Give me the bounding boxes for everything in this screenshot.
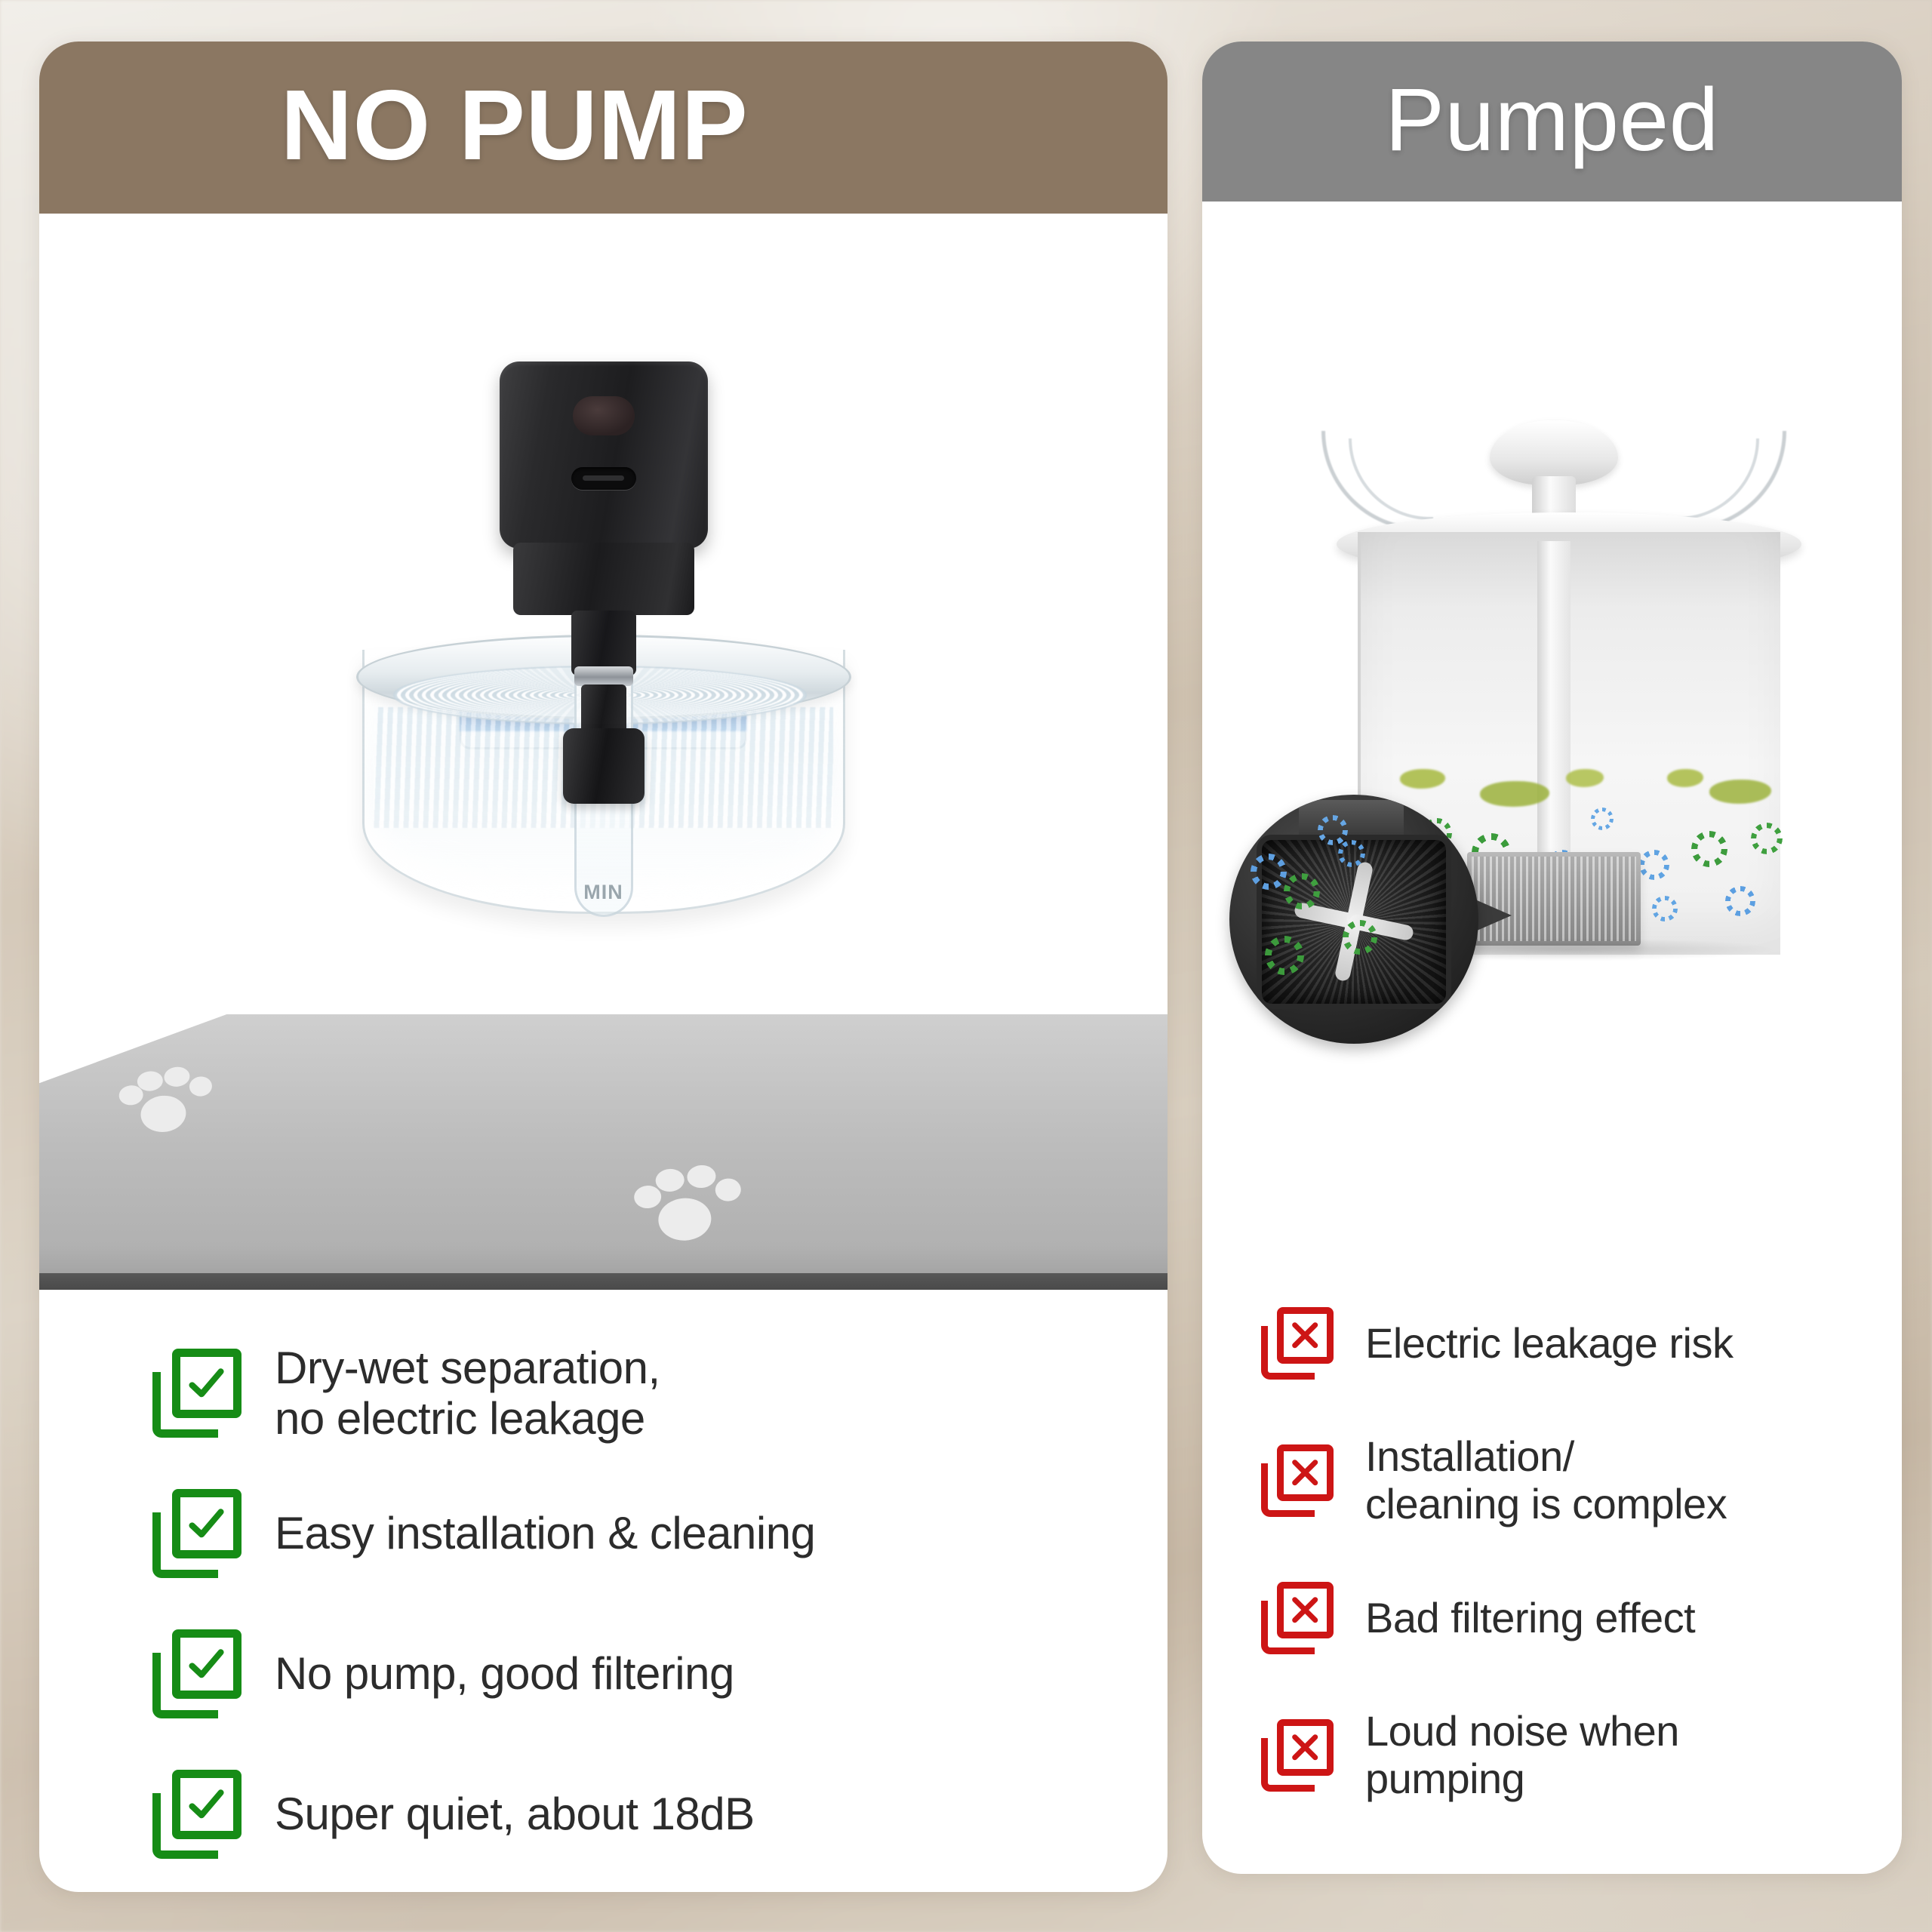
feature-label: Loud noise when pumping	[1365, 1708, 1679, 1802]
pump-module-body	[500, 361, 708, 549]
pump-module	[483, 361, 724, 663]
pump-shaft	[581, 685, 626, 733]
feature-label: Super quiet, about 18dB	[275, 1789, 755, 1839]
feature-item: Loud noise when pumping	[1202, 1687, 1902, 1824]
pumped-header: Pumped	[1202, 42, 1902, 202]
germ-icon	[1756, 828, 1777, 849]
check-icon	[152, 1489, 241, 1578]
gauge-min-label: MIN	[577, 881, 631, 904]
no-pump-header: NO PUMP	[39, 42, 1168, 214]
feature-label: Electric leakage risk	[1365, 1320, 1733, 1367]
germ-icon	[1290, 879, 1314, 903]
feature-label: Installation/ cleaning is complex	[1365, 1433, 1727, 1527]
feature-label: Bad filtering effect	[1365, 1595, 1695, 1642]
usb-c-port-icon	[571, 467, 636, 490]
feature-item: Installation/ cleaning is complex	[1202, 1412, 1902, 1549]
paw-print-icon	[116, 1060, 223, 1161]
cross-icon	[1261, 1582, 1334, 1654]
no-pump-panel: NO PUMP	[39, 42, 1168, 1892]
pump-metal-ring	[574, 666, 633, 686]
germ-icon	[1697, 837, 1721, 861]
no-pump-feature-list: Dry-wet separation, no electric leakage …	[39, 1290, 1168, 1884]
pet-mat	[39, 1014, 1168, 1290]
no-pump-title: NO PUMP	[281, 68, 749, 182]
check-icon	[152, 1770, 241, 1859]
pet-mat-edge	[39, 1273, 1168, 1290]
check-icon	[152, 1349, 241, 1438]
feature-item: Bad filtering effect	[1202, 1549, 1902, 1687]
germ-icon	[1657, 900, 1673, 917]
cross-icon	[1261, 1307, 1334, 1380]
feature-item: No pump, good filtering	[39, 1604, 1168, 1744]
feature-item: Dry-wet separation, no electric leakage	[39, 1323, 1168, 1463]
feature-item: Electric leakage risk	[1202, 1275, 1902, 1412]
ir-sensor-icon	[573, 396, 635, 435]
feature-label: Easy installation & cleaning	[275, 1508, 815, 1558]
germ-icon	[1257, 860, 1281, 884]
pumped-panel: Pumped	[1202, 42, 1902, 1874]
germ-icon	[1644, 855, 1664, 875]
germ-icon	[1343, 844, 1361, 863]
no-pump-product-photo: MAX MIN	[39, 214, 1168, 1290]
germ-icon	[1730, 891, 1750, 911]
feature-label: No pump, good filtering	[275, 1648, 734, 1699]
pumped-title: Pumped	[1385, 69, 1719, 171]
germ-icon	[1595, 811, 1610, 826]
feature-item: Easy installation & cleaning	[39, 1463, 1168, 1604]
pumped-fountain-cutaway	[1290, 428, 1818, 1017]
pump-callout-bubble	[1229, 795, 1478, 1044]
feature-label: Dry-wet separation, no electric leakage	[275, 1343, 660, 1444]
pump-hub	[563, 728, 645, 804]
pump-collar	[513, 543, 694, 615]
fountain-riser-pipe	[1537, 541, 1571, 873]
paw-print-icon	[632, 1159, 752, 1271]
germ-icon	[1323, 820, 1343, 840]
feature-item: Super quiet, about 18dB	[39, 1744, 1168, 1884]
callout-circle	[1229, 795, 1478, 1044]
germ-icon	[1349, 926, 1371, 949]
germ-icon	[1272, 943, 1297, 968]
cross-icon	[1261, 1444, 1334, 1517]
cross-icon	[1261, 1719, 1334, 1792]
pumped-product-photo	[1202, 202, 1902, 1241]
check-icon	[152, 1629, 241, 1718]
pumped-feature-list: Electric leakage risk Installation/ clea…	[1202, 1241, 1902, 1824]
